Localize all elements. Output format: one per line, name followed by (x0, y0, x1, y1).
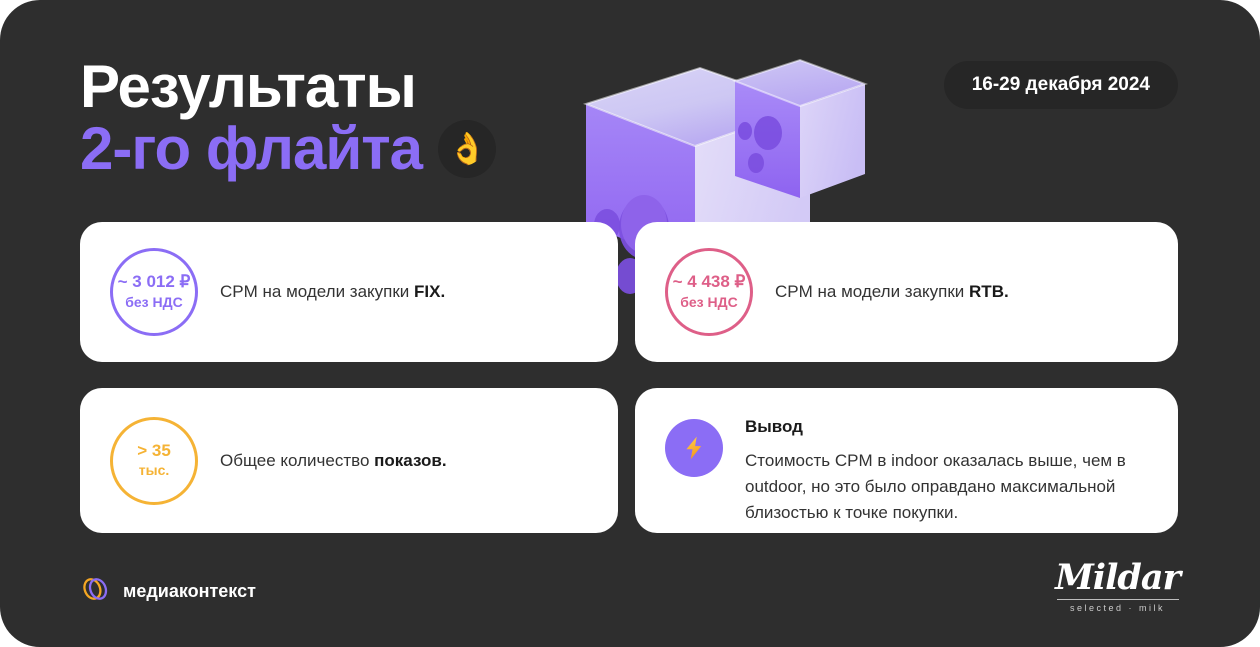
conclusion-text: Стоимость CPM в indoor оказалась выше, ч… (745, 448, 1148, 525)
agency-logo: медиаконтекст (80, 574, 256, 609)
metric-description: Общее количество показов. (220, 448, 447, 474)
metric-description-emphasis: RTB. (969, 282, 1009, 301)
date-range-badge: 16-29 декабря 2024 (944, 61, 1178, 109)
metric-description-prefix: CPM на модели закупки (220, 282, 414, 301)
metric-note: без НДС (680, 294, 737, 311)
brand-divider (1057, 599, 1179, 600)
brand-tagline: selected · milk (1055, 603, 1180, 613)
metric-note: без НДС (125, 294, 182, 311)
metric-ring-impressions: > 35 тыс. (110, 417, 198, 505)
metric-ring-cpm-rtb: ~ 4 438 ₽ без НДС (665, 248, 753, 336)
brand-logo: Mildar selected · milk (1055, 560, 1180, 613)
presentation-slide: Результаты 2-го флайта 👌 16-29 декабря 2… (0, 0, 1260, 647)
page-title: Результаты 2-го флайта 👌 (80, 56, 496, 180)
metric-value: ~ 4 438 ₽ (673, 273, 746, 292)
metric-description-emphasis: FIX. (414, 282, 445, 301)
conclusion-title: Вывод (745, 417, 1148, 437)
ok-hand-emoji: 👌 (438, 120, 496, 178)
title-line-secondary: 2-го флайта 👌 (80, 118, 496, 180)
title-line-secondary-text: 2-го флайта (80, 118, 422, 180)
metric-description-emphasis: показов. (374, 451, 446, 470)
mediakontekst-rings-logo (80, 574, 110, 609)
lightning-bolt-icon (665, 419, 723, 477)
metric-value: > 35 (137, 442, 171, 461)
metric-note: тыс. (139, 462, 170, 479)
metric-ring-cpm-fix: ~ 3 012 ₽ без НДС (110, 248, 198, 336)
brand-name: Mildar (1055, 560, 1180, 595)
metric-card-cpm-rtb: ~ 4 438 ₽ без НДС CPM на модели закупки … (635, 222, 1178, 362)
metric-card-cpm-fix: ~ 3 012 ₽ без НДС CPM на модели закупки … (80, 222, 618, 362)
agency-name: медиаконтекст (123, 581, 256, 602)
metric-description: CPM на модели закупки RTB. (775, 279, 1009, 305)
metric-description-prefix: CPM на модели закупки (775, 282, 969, 301)
metric-value: ~ 3 012 ₽ (118, 273, 191, 292)
metric-card-impressions: > 35 тыс. Общее количество показов. (80, 388, 618, 533)
conclusion-card: Вывод Стоимость CPM в indoor оказалась в… (635, 388, 1178, 533)
metric-description-prefix: Общее количество (220, 451, 374, 470)
title-line-primary: Результаты (80, 56, 496, 118)
metric-description: CPM на модели закупки FIX. (220, 279, 445, 305)
